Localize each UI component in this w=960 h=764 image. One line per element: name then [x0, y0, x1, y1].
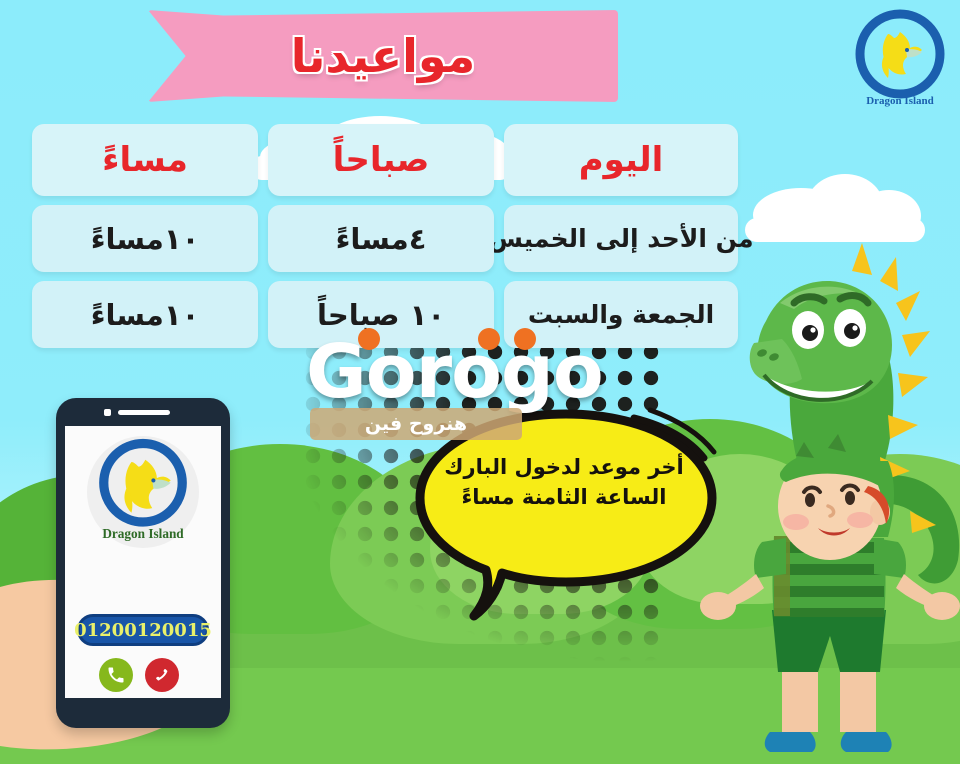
brand-logo-top: Dragon Island: [848, 6, 952, 110]
phone-number: 01200120015: [74, 620, 212, 641]
speech-line-2: الساعة الثامنة مساءً: [428, 482, 700, 512]
watermark: Gorogo هنروح فين: [306, 334, 646, 452]
cell-value-evening: ١٠مساءً: [91, 298, 200, 332]
logo-wordmark: Dragon Island: [866, 95, 934, 107]
cell-value-morning: ٤مساءً: [336, 222, 427, 256]
page-title: مواعيدنا: [148, 16, 618, 96]
schedule-table: اليوم صباحاً مساءً من الأحد إلى الخميس ٤…: [36, 124, 738, 357]
watermark-dot: [514, 328, 536, 350]
header-cell-evening: مساءً: [32, 124, 258, 196]
accept-call-button[interactable]: [99, 658, 133, 692]
boy-illustration-icon: [700, 450, 960, 764]
poster-canvas: مواعيدنا Dragon Island اليوم صباحاً مساء…: [0, 0, 960, 764]
phone-screen: Dragon Island 01200120015: [65, 426, 221, 698]
cell-value-evening: ١٠مساءً: [91, 222, 200, 256]
speech-bubble-text: أخر موعد لدخول البارك الساعة الثامنة مسا…: [428, 452, 700, 513]
phone-speaker: [118, 410, 170, 415]
phone-handset-icon: [106, 665, 126, 685]
phone-mockup: Dragon Island 01200120015: [56, 398, 230, 728]
dragon-island-logo-icon: Dragon Island: [848, 6, 952, 110]
header-label-morning: صباحاً: [333, 140, 430, 180]
watermark-tagline: هنروح فين: [365, 413, 467, 435]
watermark-dot: [358, 328, 380, 350]
phone-camera-icon: [104, 409, 111, 416]
cell-evening: ١٠مساءً: [32, 281, 258, 348]
watermark-tagline-badge: هنروح فين: [310, 408, 522, 440]
table-header-row: اليوم صباحاً مساءً: [36, 124, 738, 196]
header-label-evening: مساءً: [102, 140, 188, 180]
watermark-dot: [478, 328, 500, 350]
banner: مواعيدنا: [148, 2, 618, 110]
decline-call-button[interactable]: [145, 658, 179, 692]
cell-value-morning: ١٠ صباحاً: [317, 298, 445, 332]
boy-character: [700, 450, 960, 764]
phone-logo-wordmark: Dragon Island: [102, 526, 184, 541]
header-cell-morning: صباحاً: [268, 124, 494, 196]
watermark-wordmark: Gorogo: [306, 334, 646, 410]
phone-number-badge: 01200120015: [77, 614, 209, 646]
cell-value-day: الجمعة والسبت: [528, 300, 714, 329]
header-cell-day: اليوم: [504, 124, 738, 196]
cell-morning: ٤مساءً: [268, 205, 494, 272]
dragon-island-logo-icon: Dragon Island: [83, 432, 203, 552]
cell-day: من الأحد إلى الخميس: [504, 205, 738, 272]
cell-evening: ١٠مساءً: [32, 205, 258, 272]
speech-line-1: أخر موعد لدخول البارك: [428, 452, 700, 482]
cell-value-day: من الأحد إلى الخميس: [488, 224, 753, 253]
header-label-day: اليوم: [579, 140, 664, 180]
table-row: من الأحد إلى الخميس ٤مساءً ١٠مساءً: [36, 205, 738, 272]
phone-hangup-icon: [152, 665, 172, 685]
